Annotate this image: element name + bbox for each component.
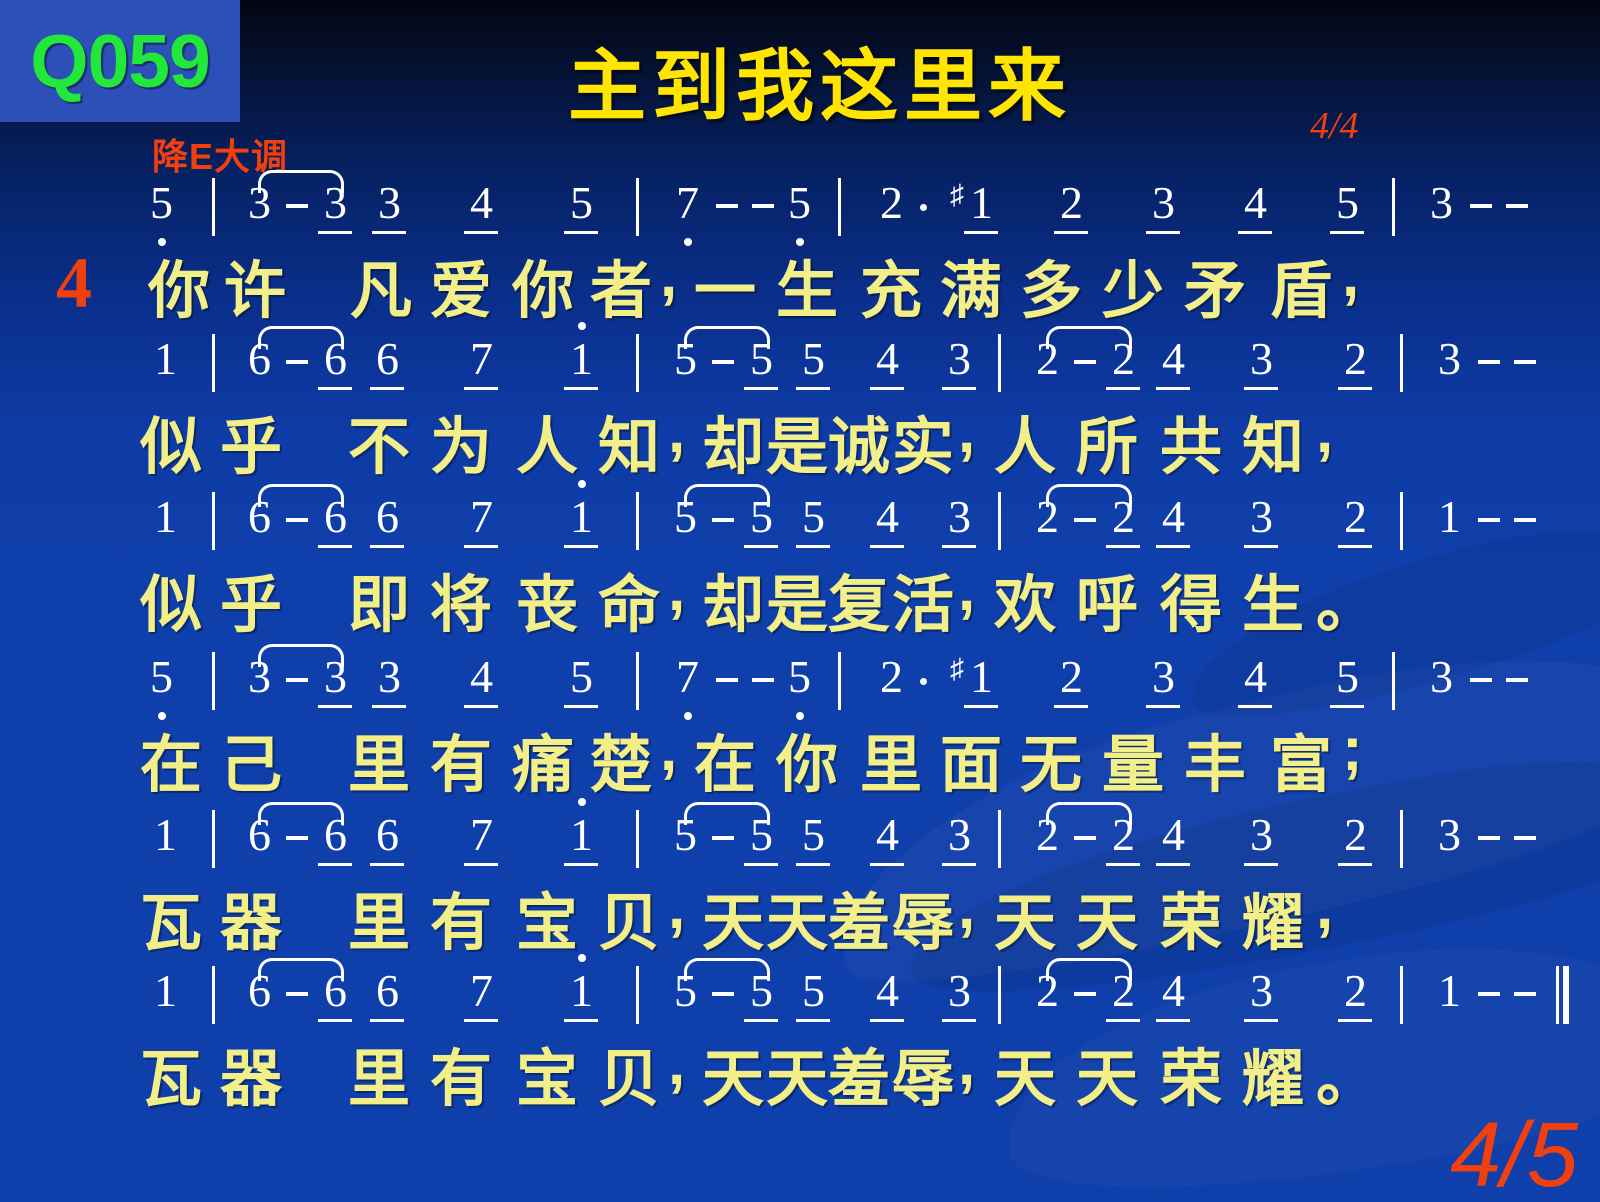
page-title: 主到我这里来 (0, 24, 1600, 136)
note-number: 2 (880, 650, 903, 703)
lyric-char: 耀 (1242, 1028, 1304, 1118)
note-glyph-high-octave: 1 (570, 490, 593, 543)
lyric-char: 你 (148, 240, 210, 330)
note-number: 1 (570, 964, 593, 1017)
notation-row: 16667155543224321 (120, 964, 1460, 1028)
tie-slur (258, 170, 344, 193)
eighth-beam-underline (564, 545, 598, 548)
note-glyph: 5 (1336, 176, 1359, 229)
lyric-char: 爱 (430, 240, 492, 330)
lyric-char: 辱 (892, 872, 954, 962)
note-number: 2 (1344, 490, 1367, 543)
eighth-beam-underline (372, 705, 406, 708)
note-glyph-low-octave: 5 (150, 650, 173, 703)
eighth-beam-underline (796, 545, 830, 548)
lyric-char: 即 (348, 554, 410, 644)
hold-dash (712, 836, 734, 840)
page-number-label: 4/5 (1450, 1103, 1578, 1202)
note-number: 3 (1250, 332, 1273, 385)
note-glyph: 1 (970, 176, 993, 229)
note-glyph: 4 (470, 650, 493, 703)
lyric-row: 在己里有痛楚,在你里面无量丰富; (120, 714, 1460, 800)
note-number: 1 (154, 490, 177, 543)
notation-row: 16667155543224321 (120, 490, 1460, 554)
notation-row: 16667155543224323 (120, 808, 1460, 872)
lyric-char: 天 (994, 872, 1056, 962)
note-number: 4 (1162, 490, 1185, 543)
lyric-char: 知 (598, 396, 660, 486)
note-glyph: 4 (876, 490, 899, 543)
note-glyph: 7 (470, 808, 493, 861)
tie-slur (258, 958, 344, 981)
note-glyph: 5 (802, 490, 825, 543)
note-number: 3 (948, 964, 971, 1017)
lyric-char: 凡 (350, 240, 412, 330)
note-number: 5 (788, 650, 811, 703)
note-glyph: 2 (1344, 808, 1367, 861)
note-number: 1 (570, 490, 593, 543)
note-glyph: 3 (1250, 332, 1273, 385)
eighth-beam-underline (564, 387, 598, 390)
lyric-char: 面 (940, 714, 1002, 804)
note-glyph: 4 (1162, 964, 1185, 1017)
hold-dash (1506, 204, 1528, 208)
lyric-char: 为 (430, 396, 492, 486)
note-number: 7 (470, 964, 493, 1017)
hold-dash (286, 678, 308, 682)
lyric-char: , (660, 714, 677, 785)
eighth-beam-underline (372, 231, 406, 234)
eighth-beam-underline (564, 863, 598, 866)
note-glyph: 2 (880, 650, 903, 703)
eighth-beam-underline (318, 1019, 352, 1022)
note-number: 2 (1060, 176, 1083, 229)
lyric-char: 天 (1076, 1028, 1138, 1118)
tie-slur (258, 326, 344, 349)
note-number: 5 (802, 964, 825, 1017)
lyric-char: 不 (348, 396, 410, 486)
note-glyph-high-octave: 1 (570, 332, 593, 385)
lyric-char: , (1342, 240, 1359, 311)
note-number: 3 (1438, 808, 1461, 861)
lyric-char: 丧 (516, 554, 578, 644)
note-number: 4 (1162, 808, 1185, 861)
bar-line (212, 810, 215, 868)
note-glyph: 3 (948, 332, 971, 385)
bar-line (212, 492, 215, 550)
lyric-char: 欢 (994, 554, 1056, 644)
notation-system: 16667155543224323似乎不为人知,却是诚实,人所共知, (120, 332, 1460, 482)
note-glyph: 3 (1152, 650, 1175, 703)
hold-dash (1478, 836, 1500, 840)
eighth-beam-underline (744, 1019, 778, 1022)
bar-line (636, 652, 639, 710)
lyric-char: 乎 (220, 396, 282, 486)
note-number: 5 (150, 650, 173, 703)
note-glyph: 3 (948, 808, 971, 861)
note-number: 3 (948, 808, 971, 861)
lyric-char: , (958, 1028, 975, 1099)
note-glyph: 3 (1430, 176, 1453, 229)
note-glyph-low-octave: 5 (150, 176, 173, 229)
note-number: 4 (470, 176, 493, 229)
note-glyph: 2 (1344, 964, 1367, 1017)
note-glyph-high-octave: 1 (570, 964, 593, 1017)
note-number: 5 (1336, 650, 1359, 703)
bar-line (998, 334, 1001, 392)
lyric-char: 活 (892, 554, 954, 644)
lyric-char: 器 (220, 1028, 282, 1118)
bar-line (636, 178, 639, 236)
eighth-beam-underline (796, 387, 830, 390)
lyric-char: , (668, 396, 685, 467)
eighth-beam-underline (1338, 387, 1372, 390)
lyric-char: 盾 (1270, 240, 1332, 330)
lyric-char: 。 (1316, 554, 1378, 644)
note-glyph-low-octave: 7 (676, 650, 699, 703)
note-number: 5 (788, 176, 811, 229)
lyric-char: 似 (140, 554, 202, 644)
note-number: 1 (154, 964, 177, 1017)
note-glyph: 3 (378, 176, 401, 229)
eighth-beam-underline (744, 545, 778, 548)
lyric-char: 富 (1270, 714, 1332, 804)
note-glyph-low-octave: 5 (788, 650, 811, 703)
note-number: 2 (1344, 964, 1367, 1017)
lyric-row: 瓦器里有宝贝,天天羞辱,天天荣耀, (120, 872, 1460, 958)
eighth-beam-underline (370, 1019, 404, 1022)
note-number: 2 (1344, 808, 1367, 861)
eighth-beam-underline (370, 545, 404, 548)
eighth-beam-underline (1156, 545, 1190, 548)
lyric-char: 复 (828, 554, 890, 644)
bar-line (636, 334, 639, 392)
note-glyph: 6 (376, 490, 399, 543)
note-number: 7 (470, 808, 493, 861)
bar-line (212, 334, 215, 392)
note-glyph: 4 (1162, 332, 1185, 385)
eighth-beam-underline (1106, 1019, 1140, 1022)
eighth-beam-underline (370, 863, 404, 866)
note-glyph: 4 (876, 808, 899, 861)
tie-slur (258, 644, 344, 667)
lyric-row: 瓦器里有宝贝,天天羞辱,天天荣耀。 (120, 1028, 1460, 1114)
lyric-char: 将 (430, 554, 492, 644)
lyric-char: 所 (1076, 396, 1138, 486)
note-number: 3 (1250, 964, 1273, 1017)
note-glyph: 1 (970, 650, 993, 703)
eighth-beam-underline (1238, 705, 1272, 708)
note-glyph-high-octave: 1 (570, 808, 593, 861)
note-number: 6 (376, 490, 399, 543)
tie-slur (1046, 802, 1132, 825)
lyric-char: 耀 (1242, 872, 1304, 962)
lyric-char: , (660, 240, 677, 311)
eighth-beam-underline (1244, 863, 1278, 866)
lyric-char: 者 (590, 240, 652, 330)
note-glyph: 3 (948, 490, 971, 543)
notation-system: 533345752♯123453你许凡爱你者,一生充满多少矛盾, (120, 176, 1460, 326)
note-glyph: 3 (948, 964, 971, 1017)
lyric-char: 有 (430, 714, 492, 804)
eighth-beam-underline (564, 705, 598, 708)
note-glyph: 5 (570, 176, 593, 229)
note-number: 1 (1438, 490, 1461, 543)
lyric-char: 乎 (220, 554, 282, 644)
lyric-char: 生 (1242, 554, 1304, 644)
tie-slur (258, 484, 344, 507)
note-glyph: 3 (1430, 650, 1453, 703)
lyric-char: 天 (702, 872, 764, 962)
eighth-beam-underline (744, 863, 778, 866)
note-number: ♯1 (970, 176, 993, 229)
lyric-row: 你许凡爱你者,一生充满多少矛盾, (120, 240, 1460, 326)
tie-slur (684, 802, 770, 825)
note-number: 5 (1336, 176, 1359, 229)
note-number: 4 (876, 964, 899, 1017)
lyric-char: 似 (140, 396, 202, 486)
bar-line (212, 966, 215, 1024)
note-glyph: 6 (376, 332, 399, 385)
hold-dash (1478, 360, 1500, 364)
note-number: 4 (1244, 176, 1267, 229)
lyric-char: , (668, 554, 685, 625)
lyric-char: 满 (940, 240, 1002, 330)
lyric-char: ; (1342, 714, 1363, 785)
bar-line (1400, 966, 1403, 1024)
note-number: 3 (1430, 650, 1453, 703)
lyric-char: 天 (702, 1028, 764, 1118)
note-glyph: 5 (802, 964, 825, 1017)
tie-slur (684, 958, 770, 981)
hold-dash (712, 360, 734, 364)
lyric-char: 知 (1242, 396, 1304, 486)
note-glyph: 5 (802, 332, 825, 385)
hold-dash (1074, 836, 1096, 840)
note-number: 4 (876, 490, 899, 543)
eighth-beam-underline (1146, 231, 1180, 234)
lyric-char: 却 (702, 396, 764, 486)
bar-line (1400, 492, 1403, 550)
note-number: 4 (876, 332, 899, 385)
lyric-char: 得 (1160, 554, 1222, 644)
note-number: 5 (802, 808, 825, 861)
bar-line (1392, 652, 1395, 710)
note-glyph: 2 (1060, 176, 1083, 229)
bar-line (636, 492, 639, 550)
eighth-beam-underline (1156, 1019, 1190, 1022)
lyric-char: , (668, 872, 685, 943)
eighth-beam-underline (1338, 863, 1372, 866)
lyric-char: 羞 (828, 1028, 890, 1118)
note-glyph: 4 (1162, 490, 1185, 543)
lyric-char: 宝 (516, 872, 578, 962)
eighth-beam-underline (318, 705, 352, 708)
lyric-char: 荣 (1160, 872, 1222, 962)
lyric-char: , (1316, 872, 1333, 943)
eighth-beam-underline (1244, 387, 1278, 390)
lyric-char: 是 (766, 554, 828, 644)
hold-dash (712, 992, 734, 996)
eighth-beam-underline (1054, 231, 1088, 234)
bar-line (838, 652, 841, 710)
note-glyph-low-octave: 7 (676, 176, 699, 229)
note-number: 1 (1438, 964, 1461, 1017)
bar-line (998, 810, 1001, 868)
lyric-char: 楚 (590, 714, 652, 804)
lyric-row: 似乎不为人知,却是诚实,人所共知, (120, 396, 1460, 482)
eighth-beam-underline (796, 863, 830, 866)
bar-line (636, 810, 639, 868)
lyric-char: 里 (860, 714, 922, 804)
notation-system: 16667155543224323瓦器里有宝贝,天天羞辱,天天荣耀, (120, 808, 1460, 958)
eighth-beam-underline (964, 705, 998, 708)
lyric-char: 里 (348, 714, 410, 804)
eighth-beam-underline (318, 863, 352, 866)
note-number: 7 (470, 332, 493, 385)
lyric-row: 似乎即将丧命,却是复活,欢呼得生。 (120, 554, 1460, 640)
eighth-beam-underline (942, 1019, 976, 1022)
lyric-char: 矛 (1184, 240, 1246, 330)
eighth-beam-underline (870, 545, 904, 548)
hold-dash (1506, 678, 1528, 682)
lyric-char: 贝 (598, 1028, 660, 1118)
note-glyph-low-octave: 5 (788, 176, 811, 229)
note-glyph: 1 (154, 490, 177, 543)
eighth-beam-underline (1238, 231, 1272, 234)
bar-line (1400, 810, 1403, 868)
note-glyph: 3 (1152, 176, 1175, 229)
note-glyph: 3 (378, 650, 401, 703)
note-glyph: 5 (570, 650, 593, 703)
notation-row: 533345752♯123453 (120, 650, 1460, 714)
note-number: 6 (376, 332, 399, 385)
notation-system: 16667155543224321似乎即将丧命,却是复活,欢呼得生。 (120, 490, 1460, 640)
lyric-char: 丰 (1184, 714, 1246, 804)
bar-line (636, 966, 639, 1024)
lyric-char: , (958, 872, 975, 943)
hold-dash (286, 204, 308, 208)
eighth-beam-underline (1106, 545, 1140, 548)
note-glyph: 3 (1250, 808, 1273, 861)
lyric-char: 里 (348, 872, 410, 962)
eighth-beam-underline (1054, 705, 1088, 708)
eighth-beam-underline (464, 545, 498, 548)
note-glyph: 1 (1438, 490, 1461, 543)
note-glyph: 4 (876, 964, 899, 1017)
hold-dash (1074, 992, 1096, 996)
augmentation-dot (920, 678, 927, 685)
note-glyph: 7 (470, 964, 493, 1017)
note-number: 3 (1438, 332, 1461, 385)
hold-dash (716, 678, 738, 682)
note-glyph: 1 (1438, 964, 1461, 1017)
lyric-char: 己 (220, 714, 282, 804)
eighth-beam-underline (942, 545, 976, 548)
eighth-beam-underline (1146, 705, 1180, 708)
eighth-beam-underline (796, 1019, 830, 1022)
note-glyph: 3 (1438, 332, 1461, 385)
note-glyph: 5 (802, 808, 825, 861)
slide-canvas: Q059 主到我这里来 降E大调 4/4 4 533345752♯123453你… (0, 0, 1600, 1202)
lyric-char: 辱 (892, 1028, 954, 1118)
eighth-beam-underline (564, 231, 598, 234)
lyric-char: 人 (994, 396, 1056, 486)
eighth-beam-underline (464, 231, 498, 234)
lyric-char: 羞 (828, 872, 890, 962)
note-number: 5 (802, 490, 825, 543)
note-number: 3 (1430, 176, 1453, 229)
lyric-char: 是 (766, 396, 828, 486)
eighth-beam-underline (464, 705, 498, 708)
hold-dash (1514, 360, 1536, 364)
eighth-beam-underline (464, 387, 498, 390)
note-glyph: 6 (376, 964, 399, 1017)
eighth-beam-underline (1338, 1019, 1372, 1022)
augmentation-dot (920, 204, 927, 211)
lyric-char: 瓦 (140, 872, 202, 962)
lyric-char: 天 (766, 1028, 828, 1118)
note-number: 5 (802, 332, 825, 385)
note-number: 2 (1344, 332, 1367, 385)
lyric-char: 有 (430, 872, 492, 962)
sharp-accidental-icon: ♯ (950, 180, 964, 212)
eighth-beam-underline (1330, 231, 1364, 234)
note-glyph: 7 (470, 490, 493, 543)
note-glyph: 3 (1438, 808, 1461, 861)
note-number: 4 (470, 650, 493, 703)
note-glyph: 4 (470, 176, 493, 229)
notation-row: 16667155543224323 (120, 332, 1460, 396)
lyric-char: , (958, 396, 975, 467)
note-glyph: 1 (154, 964, 177, 1017)
note-glyph: 3 (1250, 964, 1273, 1017)
eighth-beam-underline (1244, 545, 1278, 548)
note-glyph: 4 (876, 332, 899, 385)
lyric-char: , (1316, 396, 1333, 467)
eighth-beam-underline (318, 231, 352, 234)
note-glyph: 4 (1244, 650, 1267, 703)
note-number: 6 (376, 808, 399, 861)
bar-line (212, 652, 215, 710)
lyric-char: 天 (1076, 872, 1138, 962)
tie-slur (684, 484, 770, 507)
lyric-char: , (958, 554, 975, 625)
lyric-char: 却 (702, 554, 764, 644)
hold-dash (286, 360, 308, 364)
note-glyph: 1 (154, 332, 177, 385)
bar-line (1392, 178, 1395, 236)
note-number: 3 (378, 650, 401, 703)
lyric-char: 你 (512, 240, 574, 330)
hold-dash (286, 992, 308, 996)
note-glyph: 2 (880, 176, 903, 229)
eighth-beam-underline (318, 387, 352, 390)
bar-line (1400, 334, 1403, 392)
note-number: 4 (1162, 332, 1185, 385)
eighth-beam-underline (870, 863, 904, 866)
tie-slur (684, 326, 770, 349)
eighth-beam-underline (870, 1019, 904, 1022)
eighth-beam-underline (1244, 1019, 1278, 1022)
hold-dash (1514, 518, 1536, 522)
note-number: 1 (570, 332, 593, 385)
note-glyph: 4 (1162, 808, 1185, 861)
time-signature-label: 4/4 (1310, 104, 1359, 148)
note-number: 4 (876, 808, 899, 861)
hold-dash (716, 204, 738, 208)
lyric-char: 里 (348, 1028, 410, 1118)
